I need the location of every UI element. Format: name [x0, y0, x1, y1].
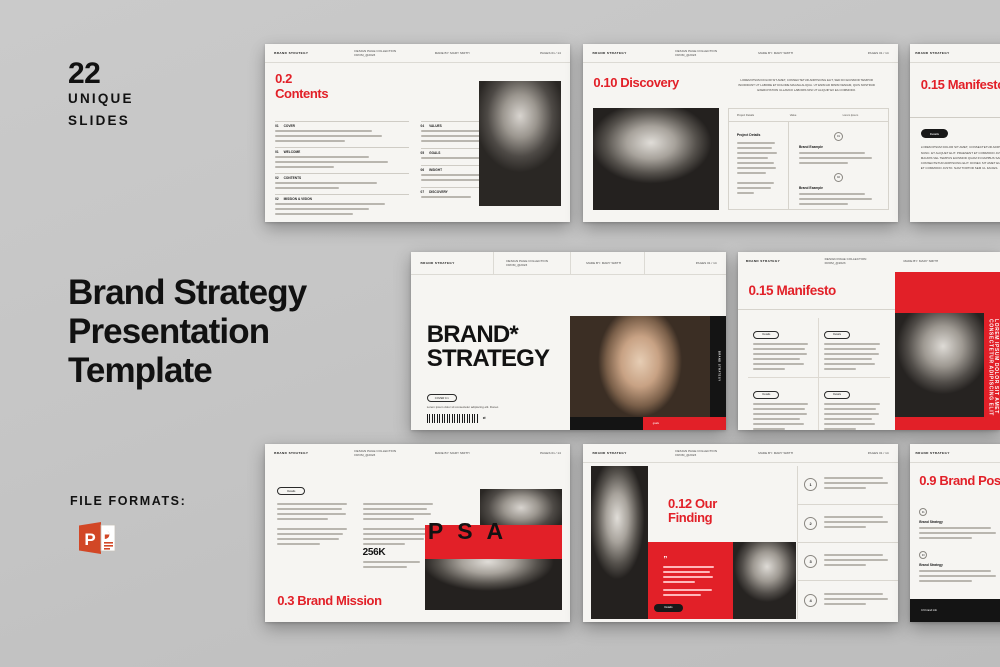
vertical-caption: LOREM IPSUM DOLOR SIT AMET CONSECTETUR A… [987, 319, 998, 420]
slide-title: 0.15 Manifesto [748, 284, 835, 299]
header-made-by: MADE BY: MARY SMITH [758, 44, 835, 62]
slide-thumbnail-our-finding[interactable]: BRAND STRATEGY DESIGN PAGE COLLECTION FR… [583, 444, 898, 622]
quote-body [663, 566, 717, 596]
slide-title: 0.12 Our Finding [668, 497, 717, 525]
toc-num: 04 [421, 124, 425, 128]
slide-header: BRAND STRATEGY DESIGN PAGE COLLECTION FR… [738, 252, 1000, 271]
powerpoint-icon: P [77, 518, 117, 558]
slide-header: BRAND STRATEGY DESIGN PAGE COLLECTION FR… [583, 444, 898, 463]
toc-label: INSIGHT [429, 168, 442, 172]
cover-side-label: BRAND STRATEGY [717, 351, 720, 382]
slide-thumbnail-discovery[interactable]: BRAND STRATEGY DESIGN PAGE COLLECTION FR… [583, 44, 898, 222]
slide-thumbnail-cover[interactable]: BRAND STRATEGY DESIGN PAGE COLLECTION FR… [411, 252, 726, 430]
cover-title: BRAND* STRATEGY [427, 323, 550, 370]
manifesto-card[interactable]: Details [819, 378, 890, 430]
header-collection: DESIGN PAGE COLLECTION FROM_@2023 [494, 252, 571, 274]
slide-title-line-1: 0.12 Our [668, 497, 717, 511]
footer-black-block [570, 417, 643, 430]
toc-label: COVER [284, 124, 295, 128]
toc-label: DISCOVERY [429, 190, 448, 194]
slide-thumbnail-manifesto-edge[interactable]: BRAND STRATEGY 0.15 Manifesto Details LO… [910, 44, 1000, 222]
table-header-cell: Project Details [729, 114, 782, 117]
slide-header: BRAND STRATEGY DESIGN PAGE COLLECTION FR… [265, 44, 570, 63]
toc-entry[interactable]: 01 COVER [275, 121, 409, 142]
quote-details-button[interactable]: Details [654, 604, 682, 612]
manifesto-card[interactable]: Details [748, 378, 819, 430]
cover-side-label-bar: BRAND STRATEGY [710, 316, 726, 417]
header-made-by: MADE BY: MARY SMITH [435, 44, 510, 62]
header-brand: BRAND STRATEGY [274, 44, 354, 62]
brand-example-block: 02 Brand Example [799, 173, 878, 205]
subtitle-line-1: UNIQUE [68, 88, 134, 110]
quote-block: ” Details [648, 542, 733, 619]
header-collection-line2: FROM_@2023 [506, 263, 548, 267]
slide-thumbnail-brand-mission[interactable]: BRAND STRATEGY DESIGN PAGE COLLECTION FR… [265, 444, 570, 622]
header-collection: DESIGN PAGE COLLECTION FROM_@2023 [354, 44, 434, 62]
list-item[interactable]: 4 [798, 581, 898, 619]
list-item-text [824, 516, 892, 531]
header-pages: PAGES 01 / 14 [509, 44, 561, 62]
header-brand: BRAND STRATEGY [592, 444, 675, 462]
list-number: 4 [804, 594, 817, 607]
block-title: Brand Example [799, 186, 878, 190]
cover-badge: COVER 0.1 [427, 394, 457, 402]
manifesto-image-block: LOREM IPSUM DOLOR SIT AMET CONSECTETUR A… [895, 272, 1000, 430]
cover-title-line-2: STRATEGY [427, 347, 550, 371]
toc-entry[interactable]: 02 MISSION & VISION [275, 194, 409, 215]
slide-intro-text: LOREM IPSUM DOLOR SIT AMET, CONSECTETUR … [734, 78, 879, 93]
cover-meta: COVER 0.1 Lorem ipsum dolor sit consecte… [427, 386, 522, 423]
slide-header: BRAND STRATEGY DESIGN PAGE COLLECTION FR… [411, 252, 726, 275]
barcode-icon [427, 414, 479, 423]
slide-thumbnail-manifesto[interactable]: BRAND STRATEGY DESIGN PAGE COLLECTION FR… [738, 252, 1000, 430]
header-made-by: MADE BY: MARY SMITH [435, 444, 510, 463]
file-formats-label: FILE FORMATS: [70, 494, 186, 508]
cover-title-line-1: BRAND* [427, 323, 550, 347]
vertical-text-block: LOREM IPSUM DOLOR SIT AMET CONSECTETUR A… [987, 319, 998, 420]
stat-caption [363, 561, 423, 568]
slide-photo [479, 81, 561, 206]
page-title-line-1: Brand Strategy [68, 273, 306, 312]
slide-title-line-2: Finding [668, 511, 717, 525]
arrow-icon: ⇄ [483, 416, 486, 420]
header-collection-line2: FROM_@2023 [354, 53, 396, 57]
cover-image-block: BRAND STRATEGY goals [570, 316, 726, 430]
svg-text:P: P [84, 530, 95, 549]
header-made-by: MADE BY: MARY SMITH [571, 252, 645, 274]
subtitle-line-2: SLIDES [68, 110, 134, 132]
brand-example-block: 01 Brand Example [799, 132, 878, 164]
badge: 03 [919, 551, 927, 559]
header-collection-line2: FROM_@2023 [825, 261, 867, 265]
toc-label: CONTENTS [284, 176, 302, 180]
header-collection: DESIGN PAGE COLLECTION FROM_@2023 [675, 44, 758, 62]
table-cell-brand-examples: 01 Brand Example 02 Brand Example [789, 122, 887, 209]
slide-photo [570, 316, 710, 417]
list-item[interactable]: 3 [798, 543, 898, 581]
header-brand: BRAND STRATEGY [420, 252, 494, 274]
badge: 01 [919, 508, 927, 516]
slide-number: 0.2 [275, 72, 328, 86]
details-badge[interactable]: Details [277, 487, 305, 496]
toc-label: VALUES [429, 124, 442, 128]
page-title-line-2: Presentation [68, 312, 306, 351]
toc-num: 01 [275, 150, 279, 154]
slide-title: Contents [275, 87, 328, 101]
slide-count: 22 [68, 57, 100, 91]
list-number: 3 [804, 555, 817, 568]
toc-entry[interactable]: 02 CONTENTS [275, 173, 409, 189]
psa-overlay-text: PSA [428, 520, 565, 543]
toc-num: 02 [275, 176, 279, 180]
manifesto-card-grid: Details Details Details Details [748, 318, 889, 414]
header-collection-line2: FROM_@2023 [354, 453, 396, 457]
slide-title: 0.9 Brand Positioning [919, 474, 1000, 488]
slide-count-subtitle: UNIQUE SLIDES [68, 88, 134, 132]
toc-num: 07 [421, 190, 425, 194]
slide-footer-bar: 0.9 brand info [910, 599, 1000, 622]
toc-column-left: 01 COVER 01 WELCOME 02 CONTENTS [275, 121, 409, 218]
list-item-text [824, 477, 892, 492]
details-badge[interactable]: Details [824, 331, 850, 339]
list-item-text [824, 593, 892, 608]
list-number: 2 [804, 517, 817, 530]
slide-header: BRAND STRATEGY DESIGN PAGE COLLECTION FR… [583, 44, 898, 63]
manifesto-card[interactable]: Details [819, 318, 890, 378]
toc-label: MISSION & VISION [284, 197, 312, 201]
header-pages: PAGES 01 / 14 [835, 44, 888, 62]
details-badge[interactable]: Details [753, 331, 779, 339]
card-title: Brand Strategy [919, 520, 1000, 524]
slide-title: 0.3 Brand Mission [277, 594, 381, 608]
toc-entry[interactable]: 01 WELCOME [275, 147, 409, 168]
page-title-line-3: Template [68, 351, 306, 390]
slide-thumbnail-contents[interactable]: BRAND STRATEGY DESIGN PAGE COLLECTION FR… [265, 44, 570, 222]
list-item[interactable]: 2 [798, 505, 898, 543]
slide-header: BRAND STRATEGY [910, 444, 1000, 463]
slide-photo-left [591, 466, 648, 619]
footer-tag: goals [653, 422, 659, 425]
slide-photo [593, 108, 719, 209]
positioning-card-grid: 01 Brand Strategy 02 Brand Strategy 03 B… [919, 508, 1000, 585]
positioning-card[interactable]: 01 Brand Strategy [919, 508, 1000, 542]
badge: 01 [834, 132, 843, 141]
header-collection-line2: FROM_@2023 [675, 53, 717, 57]
header-collection-line2: FROM_@2023 [675, 453, 717, 457]
slide-body-text: LOREM IPSUM DOLOR SIT AMET, CONSECTETUR … [921, 145, 1000, 171]
mission-column-1 [277, 503, 350, 548]
list-item[interactable]: 1 [798, 466, 898, 504]
header-brand: BRAND STRATEGY [274, 444, 354, 463]
toc-label: WELCOME [284, 150, 301, 154]
mission-image-block: PSA [425, 489, 562, 610]
footer-text: 0.9 brand info [921, 609, 937, 612]
toc-num: 02 [275, 197, 279, 201]
block-title: Project Details [737, 133, 781, 137]
list-number: 1 [804, 478, 817, 491]
slide-title: 0.10 Discovery [593, 76, 678, 90]
toc-num: 06 [421, 168, 425, 172]
slide-title: 0.15 Manifesto [921, 78, 1000, 92]
stat-value: 256K [363, 547, 423, 558]
stat-block: 256K [363, 547, 423, 571]
header-made-by: MADE BY: MARY SMITH [758, 444, 835, 462]
header-collection: DESIGN PAGE COLLECTION FROM_@2023 [675, 444, 758, 462]
header-pages: PAGES 01 / 14 [509, 444, 561, 463]
table-header-cell: Value [782, 114, 835, 117]
block-title: Brand Example [799, 145, 878, 149]
poster-canvas: 22 UNIQUE SLIDES Brand Strategy Presenta… [0, 0, 1000, 667]
slide-header: BRAND STRATEGY DESIGN PAGE COLLECTION FR… [265, 444, 570, 463]
cover-caption: Lorem ipsum dolor sit consectetur adipis… [427, 405, 522, 410]
header-brand: BRAND STRATEGY [592, 44, 675, 62]
slide-thumbnail-brand-positioning[interactable]: BRAND STRATEGY 0.9 Brand Positioning 01 … [910, 444, 1000, 622]
toc-num: 05 [421, 151, 425, 155]
header-brand: BRAND STRATEGY [746, 252, 825, 271]
card-title: Brand Strategy [919, 563, 1000, 567]
slide-photo [895, 313, 984, 418]
manifesto-card[interactable]: Details [748, 318, 819, 378]
header-brand: BRAND STRATEGY [915, 44, 996, 62]
page-title: Brand Strategy Presentation Template [68, 273, 306, 390]
header-brand: BRAND STRATEGY [916, 444, 1000, 462]
list-item-text [824, 554, 892, 569]
slide-photo-right [733, 542, 796, 619]
table-cell-project-details: Project Details [729, 122, 790, 209]
header-made-by: MADE BY: MARY SMITH [903, 252, 967, 271]
contents-title-block: 0.2 Contents [275, 72, 328, 100]
positioning-card[interactable]: 03 Brand Strategy [919, 551, 1000, 585]
details-badge[interactable]: Details [824, 391, 850, 399]
header-pages: PAGES 01 / 14 [835, 444, 888, 462]
toc-num: 01 [275, 124, 279, 128]
slide-header: BRAND STRATEGY [910, 44, 1000, 63]
header-collection: DESIGN PAGE COLLECTION FROM_@2023 [825, 252, 904, 271]
finding-list: 1 2 3 4 [797, 466, 898, 619]
header-pages: PAGES 01 / 14 [645, 252, 716, 274]
details-table: Project Details Value Lorem Ipsum Projec… [728, 108, 889, 209]
details-badge[interactable]: Details [921, 129, 948, 138]
table-header-cell: Lorem Ipsum [835, 114, 888, 117]
details-badge[interactable]: Details [753, 391, 779, 399]
badge: 02 [834, 173, 843, 182]
toc-label: GOALS [429, 151, 440, 155]
footer-red-block: goals [643, 417, 726, 430]
header-collection: DESIGN PAGE COLLECTION FROM_@2023 [354, 444, 434, 463]
quote-mark-icon: ” [663, 558, 717, 563]
